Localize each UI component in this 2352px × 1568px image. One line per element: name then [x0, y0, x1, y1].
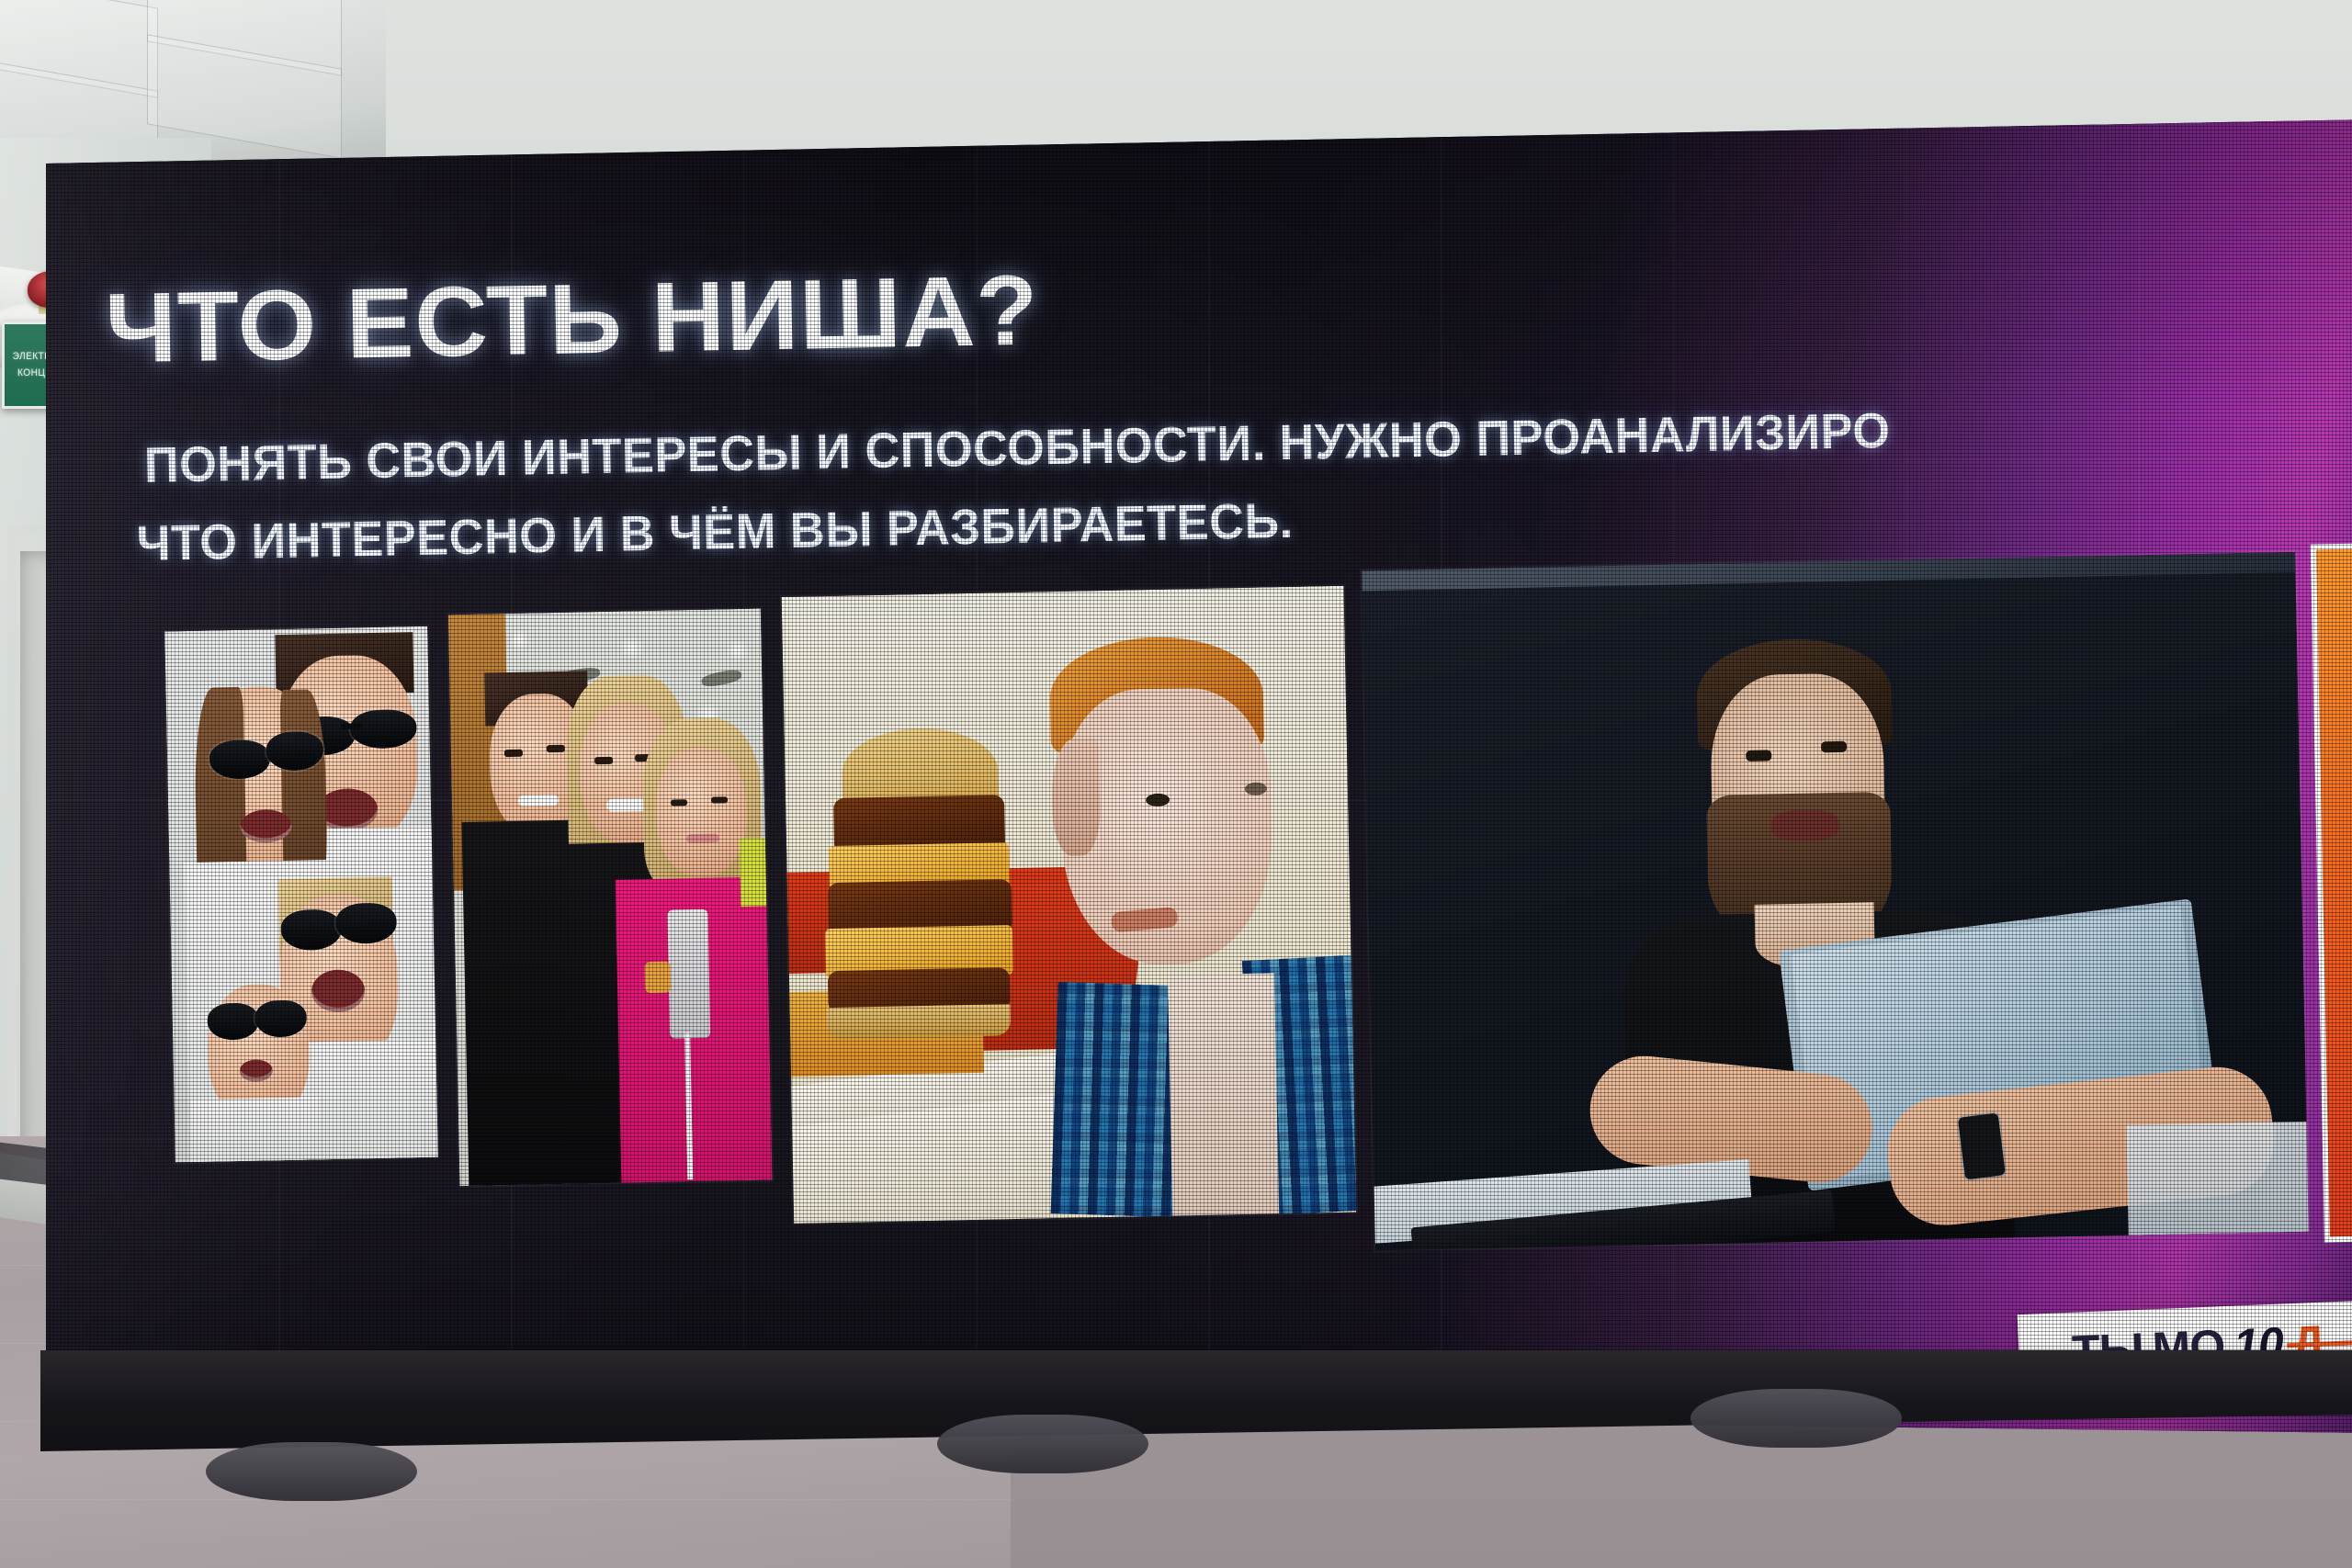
led-wall-foot — [206, 1442, 417, 1501]
slide-subtitle-line-1: ПОНЯТЬ СВОИ ИНТЕРЕСЫ И СПОСОБНОСТИ. НУЖН… — [143, 406, 1891, 491]
slide-photo-burger-guy — [782, 586, 1357, 1224]
slide-content: ЧТО ЕСТЬ НИША? ПОНЯТЬ СВОИ ИНТЕРЕСЫ И СП… — [46, 119, 2352, 1479]
slide-subtitle-line-2: ЧТО ИНТЕРЕСНО И В ЧЁМ ВЫ РАЗБИРАЕТЕСЬ. — [136, 496, 1294, 569]
slide-headline: ЧТО ЕСТЬ НИША? — [105, 260, 1040, 378]
slide-photo-family-pink-shirt — [448, 608, 772, 1186]
led-wall-foot — [937, 1415, 1148, 1473]
slide-photo-orange-panel — [2311, 542, 2352, 1242]
slide-video-bearded-man — [1362, 552, 2309, 1250]
led-wall-foot — [1690, 1389, 1902, 1448]
slide-photo-family-sunglasses — [164, 626, 438, 1163]
screenshot-stage: ЭЛЕКТРОННЫЙ КОНЦ ЦЕНТР ЧТО ЕС — [0, 0, 2352, 1568]
